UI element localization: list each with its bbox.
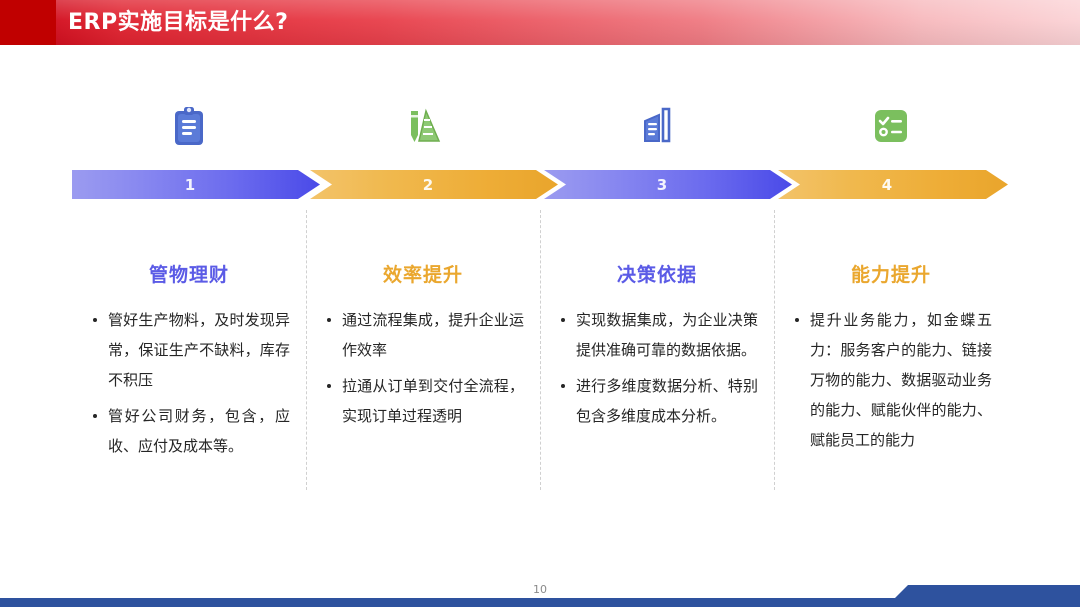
title-bar: ERP实施目标是什么? [0,0,1080,45]
column-3: 决策依据 实现数据集成，为企业决策提供准确可靠的数据依据。 进行多维度数据分析、… [540,95,774,495]
column-divider [774,210,775,490]
column-4: 能力提升 提升业务能力，如金蝶五力：服务客户的能力、链接万物的能力、数据驱动业务… [774,95,1008,495]
column-divider [540,210,541,490]
step-arrow-1[interactable]: 1 [72,170,320,199]
bullet-item: 通过流程集成，提升企业运作效率 [320,305,524,365]
column-bullets: 通过流程集成，提升企业运作效率 拉通从订单到交付全流程，实现订单过程透明 [306,305,540,431]
factory-icon [540,95,774,157]
step-number: 4 [882,176,892,194]
column-bullets: 提升业务能力，如金蝶五力：服务客户的能力、链接万物的能力、数据驱动业务的能力、赋… [774,305,1008,455]
page-title: ERP实施目标是什么? [68,0,288,45]
column-heading: 效率提升 [306,260,540,287]
column-2: 效率提升 通过流程集成，提升企业运作效率 拉通从订单到交付全流程，实现订单过程透… [306,95,540,495]
title-accent-block [0,0,56,45]
column-1: 管物理财 管好生产物料，及时发现异常，保证生产不缺料，库存不积压 管好公司财务，… [72,95,306,495]
bullet-item: 实现数据集成，为企业决策提供准确可靠的数据依据。 [554,305,758,365]
step-arrow-band: 1 2 3 4 [72,170,1008,199]
footer-bar [0,598,1080,607]
step-number: 3 [657,176,667,194]
content-columns: 管物理财 管好生产物料，及时发现异常，保证生产不缺料，库存不积压 管好公司财务，… [72,95,1008,495]
bullet-item: 进行多维度数据分析、特别包含多维度成本分析。 [554,371,758,431]
bullet-item: 拉通从订单到交付全流程，实现订单过程透明 [320,371,524,431]
column-heading: 决策依据 [540,260,774,287]
bullet-item: 提升业务能力，如金蝶五力：服务客户的能力、链接万物的能力、数据驱动业务的能力、赋… [788,305,992,455]
bullet-item: 管好公司财务，包含，应收、应付及成本等。 [86,401,290,461]
clipboard-list-icon [72,95,306,157]
column-heading: 能力提升 [774,260,1008,287]
pencil-ruler-icon [306,95,540,157]
column-bullets: 管好生产物料，及时发现异常，保证生产不缺料，库存不积压 管好公司财务，包含，应收… [72,305,306,461]
step-arrow-3[interactable]: 3 [544,170,792,199]
step-arrow-4[interactable]: 4 [778,170,1008,199]
slide-canvas: ERP实施目标是什么? 管物理财 管好生产物料，及时发现异常，保证生产不缺料，库… [0,0,1080,607]
column-bullets: 实现数据集成，为企业决策提供准确可靠的数据依据。 进行多维度数据分析、特别包含多… [540,305,774,431]
step-number: 1 [185,176,195,194]
bullet-item: 管好生产物料，及时发现异常，保证生产不缺料，库存不积压 [86,305,290,395]
column-heading: 管物理财 [72,260,306,287]
checklist-square-icon [774,95,1008,157]
step-number: 2 [423,176,433,194]
step-arrow-2[interactable]: 2 [310,170,558,199]
column-divider [306,210,307,490]
